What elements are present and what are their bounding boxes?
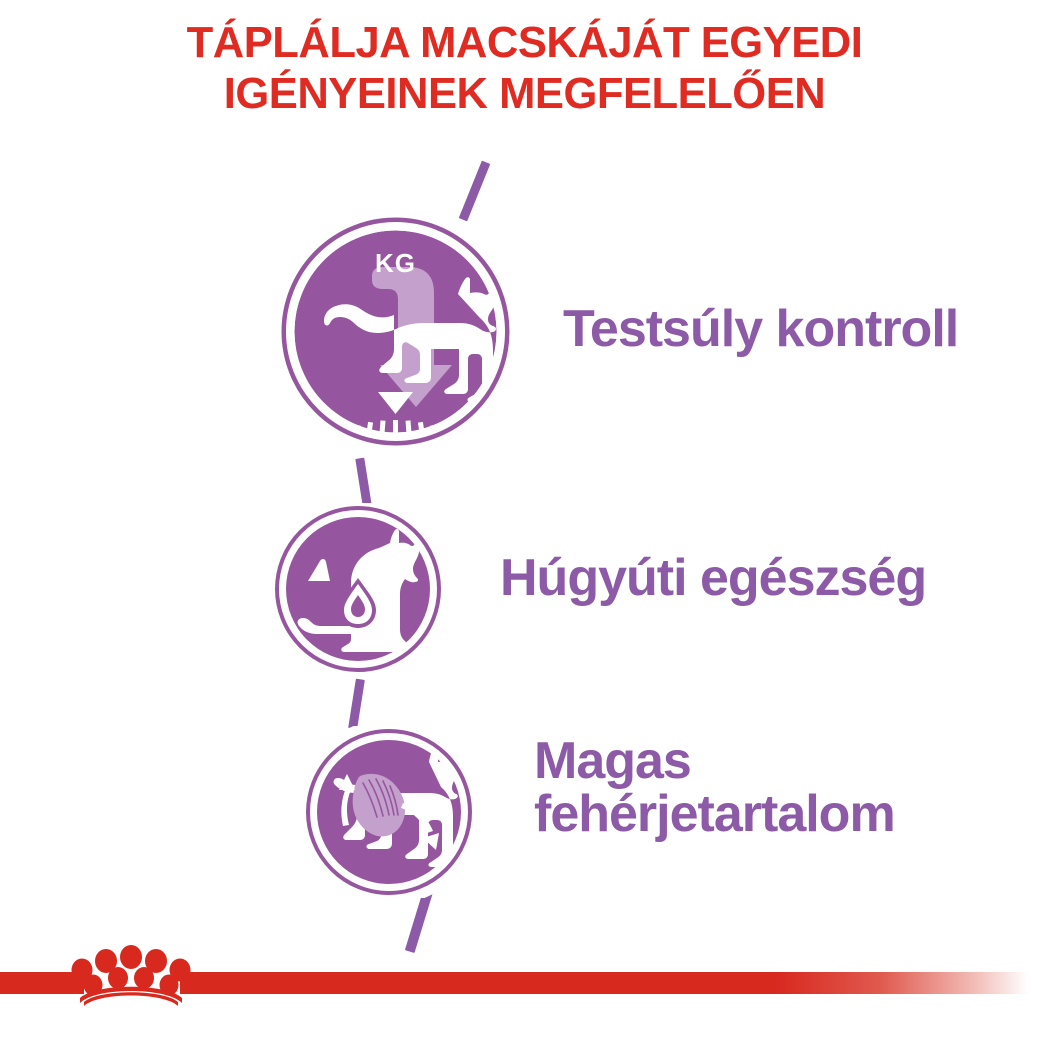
benefit-icon-high-protein[interactable] (303, 726, 475, 898)
page-title-line-2: IGÉNYEINEK MEGFELELŐEN (5, 69, 1044, 120)
connector-dash-top (459, 161, 491, 222)
urinary-health-cat-drop-icon (272, 503, 444, 675)
benefit-label-high-protein: Magas fehérjetartalom (534, 735, 1034, 841)
page-title-line-1: TÁPLÁLJA MACSKÁJÁT EGYEDI (5, 18, 1044, 69)
connector-dash-bottom (405, 889, 433, 953)
royal-canin-crown-logo (70, 944, 192, 1006)
benefit-icon-urinary-health[interactable] (272, 503, 444, 675)
weight-control-cat-scale-icon: KG (278, 214, 513, 449)
page-title: TÁPLÁLJA MACSKÁJÁT EGYEDI IGÉNYEINEK MEG… (5, 18, 1044, 119)
benefit-label-weight-control: Testsúly kontroll (563, 303, 1033, 356)
benefit-label-urinary-health: Húgyúti egészség (500, 552, 1020, 605)
svg-text:KG: KG (375, 248, 416, 278)
benefit-icon-weight-control[interactable]: KG (278, 214, 513, 449)
high-protein-cat-muscle-icon (303, 726, 475, 898)
poster-canvas: TÁPLÁLJA MACSKÁJÁT EGYEDI IGÉNYEINEK MEG… (0, 0, 1049, 1049)
connector-dash-1-2 (355, 458, 371, 507)
connector-dash-2-3 (348, 679, 365, 730)
